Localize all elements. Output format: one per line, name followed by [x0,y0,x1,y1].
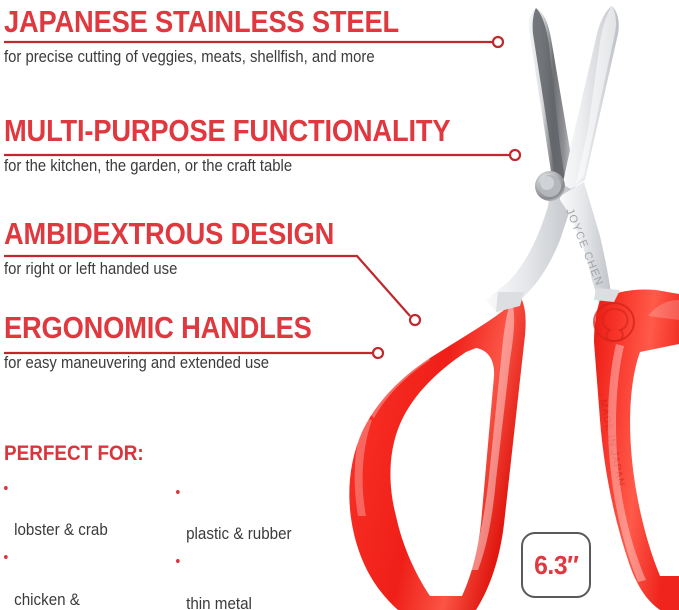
feature-block-multi-purpose-functionality: MULTI-PURPOSE FUNCTIONALITY for the kitc… [4,115,511,175]
size-badge: 6.3″ [521,532,591,598]
list-item: chicken & other proteins [4,547,162,610]
bullet-dot-icon [4,555,8,559]
bullet-dot-icon [4,486,8,490]
perfect-for-column-left: lobster & crab chicken & other proteins … [4,478,176,610]
feature-title: AMBIDEXTROUS DESIGN [4,218,334,249]
feature-block-japanese-stainless-steel: JAPANESE STAINLESS STEEL for precise cut… [4,6,453,66]
perfect-for-column-right: plastic & rubber thin metal fabric & cra… [176,478,344,610]
list-item: plastic & rubber [176,482,331,545]
list-item-label: chicken & other proteins [14,591,107,610]
feature-title: MULTI-PURPOSE FUNCTIONALITY [4,115,450,146]
list-item-label: thin metal [186,595,252,610]
feature-block-ambidextrous-design: AMBIDEXTROUS DESIGN for right or left ha… [4,218,379,278]
list-item-label: plastic & rubber [186,525,291,543]
list-item: lobster & crab [4,478,162,541]
size-badge-label: 6.3″ [534,550,578,581]
bullet-dot-icon [176,490,180,494]
feature-title: ERGONOMIC HANDLES [4,312,312,343]
connector-endpoint-2 [510,150,520,160]
list-item-label: lobster & crab [14,521,108,539]
feature-subtitle: for the kitchen, the garden, or the craf… [4,157,461,175]
perfect-for-section: PERFECT FOR: lobster & crab chicken & ot… [4,442,344,610]
connector-endpoint-1 [493,37,503,47]
connector-endpoint-4 [373,348,383,358]
feature-subtitle: for precise cutting of veggies, meats, s… [4,48,408,66]
connector-endpoint-3 [410,315,420,325]
feature-subtitle: for right or left handed use [4,260,342,278]
list-item: thin metal [176,551,331,610]
perfect-for-title: PERFECT FOR: [4,442,310,466]
perfect-for-columns: lobster & crab chicken & other proteins … [4,478,344,610]
bullet-dot-icon [176,559,180,563]
feature-subtitle: for easy maneuvering and extended use [4,354,319,372]
feature-block-ergonomic-handles: ERGONOMIC HANDLES for easy maneuvering a… [4,312,354,372]
infographic-page: JOYCE CHEN MADE IN JAPAN [0,0,679,610]
feature-title: JAPANESE STAINLESS STEEL [4,6,399,37]
